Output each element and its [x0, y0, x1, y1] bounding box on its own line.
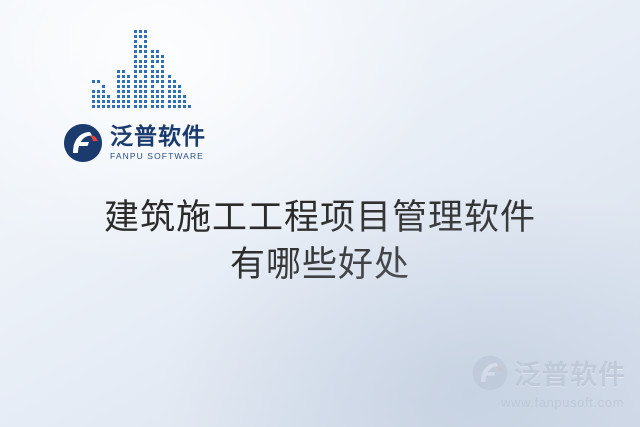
brand-wordmark: 泛普软件 FANPU SOFTWARE [62, 120, 232, 166]
fanpu-pixel-building-mark-icon [90, 28, 194, 112]
page-title-line-2: 有哪些好处 [0, 243, 640, 288]
page-title: 建筑施工工程项目管理软件 有哪些好处 [0, 196, 640, 288]
fanpu-f-icon [471, 354, 509, 392]
brand-wordmark-text: 泛普软件 FANPU SOFTWARE [110, 125, 206, 161]
watermark: 泛普软件 www.fanpusoft.com [416, 353, 626, 415]
poster-canvas: 泛普软件 FANPU SOFTWARE 建筑施工工程项目管理软件 有哪些好处 泛… [0, 0, 640, 427]
brand-logo-block: 泛普软件 FANPU SOFTWARE [62, 28, 232, 170]
watermark-brand-row: 泛普软件 [416, 353, 626, 392]
page-title-line-1: 建筑施工工程项目管理软件 [0, 196, 640, 241]
watermark-url: www.fanpusoft.com [416, 395, 626, 410]
fanpu-f-icon [62, 122, 104, 164]
brand-name-en: FANPU SOFTWARE [110, 152, 206, 161]
watermark-brand-name: 泛普软件 [514, 353, 626, 392]
brand-name-cn: 泛普软件 [110, 125, 206, 148]
